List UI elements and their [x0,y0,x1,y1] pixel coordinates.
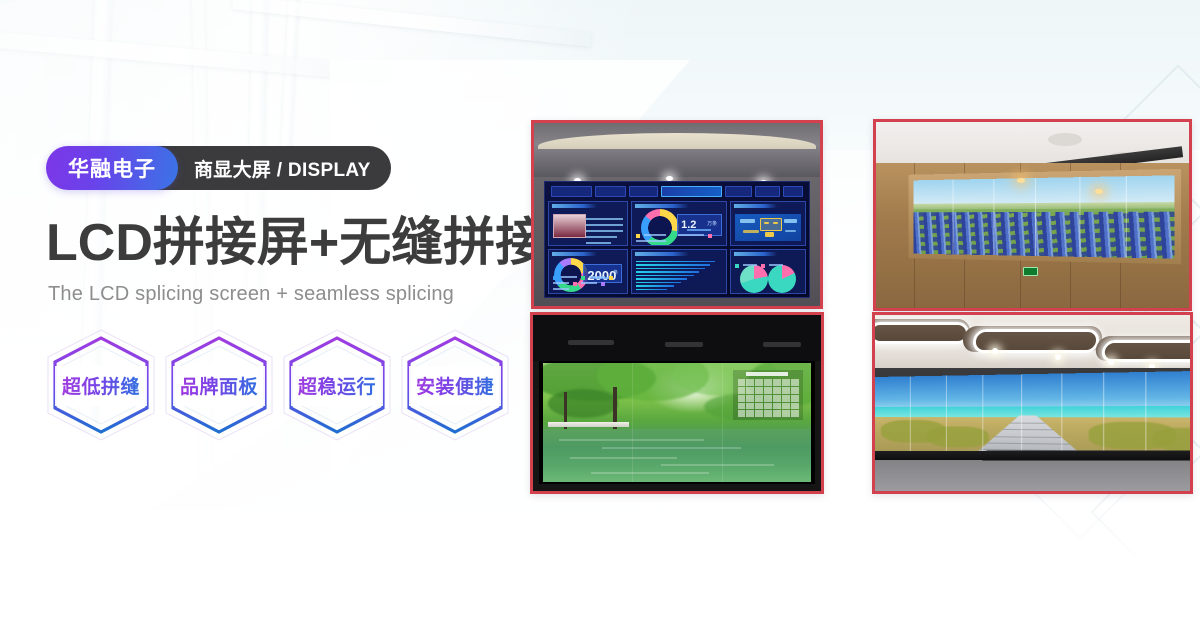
video-wall-bezel [539,361,816,484]
legend-label [553,282,569,284]
wall-highlight [665,342,702,347]
text-line [586,230,623,232]
dashboard-chip [783,186,803,197]
calendar-title [746,372,788,376]
ceiling [534,123,820,177]
photo-content: 1.2 万条 [534,123,820,306]
photo-solar-farm-wall [873,119,1192,311]
bar [636,285,674,286]
legend-label [581,282,597,284]
legend-label [743,264,757,266]
scene-foliage [548,389,618,417]
dashboard-chip [551,186,592,197]
legend-label [769,264,783,266]
flow-node [743,230,759,233]
wall-top-bezel [533,315,821,361]
feature-badge-label: 超稳运行 [298,372,376,399]
legend-label [636,240,666,242]
chart-legend [735,264,801,268]
feature-badge-row: 超低拼缝 品牌面板 超稳运行 [42,326,516,444]
bar [636,278,687,279]
feature-badge-label: 品牌面板 [180,372,258,399]
wall-highlight [763,342,800,347]
downlight [1055,354,1061,360]
feature-badge: 品牌面板 [160,326,278,444]
metric-panel: 1.2 万条 [677,214,722,236]
banner-stage: 华融电子 商显大屏 / DISPLAY LCD拼接屏+无缝拼接 The LCD … [0,0,1200,640]
dashboard-card-count: 2000 条 [548,249,628,294]
video-wall-screen: 1.2 万条 [544,181,810,298]
legend-swatch [708,234,712,238]
wall-highlight [568,340,614,345]
text-line [586,218,623,220]
photo-beach-boardwalk-wall [872,312,1193,494]
dashboard-card-bars [631,249,726,294]
legend-label [644,234,666,236]
pie-chart [740,265,768,293]
bar [636,264,709,265]
legend-label [561,276,577,278]
flow-node [740,219,755,223]
legend-label [678,234,704,236]
card-title [552,204,597,208]
page-title: LCD拼接屏+无缝拼接 [46,216,516,271]
feature-badge: 超稳运行 [278,326,396,444]
video-wall-screen [543,363,811,481]
calendar-overlay [733,370,803,420]
card-title [635,204,689,208]
card-thumbnail [553,214,586,238]
feature-badge-label: 超低拼缝 [62,372,140,399]
photo-content [876,122,1189,308]
video-wall-base [875,450,1193,460]
text-line [586,236,617,238]
legend-swatch [573,282,577,286]
scene-water [543,429,811,481]
text-line [586,242,611,244]
bar [636,268,704,269]
legend-swatch [636,234,640,238]
flow-node [785,230,796,233]
wall-lamp [1095,189,1103,194]
photo-willow-lake-wall [530,312,824,494]
bar [636,282,680,283]
flow-diagram [735,214,801,241]
tag-bar: 华融电子 商显大屏 / DISPLAY [46,146,391,190]
exit-sign-icon [1023,267,1038,276]
ceiling-light-strip [1100,340,1193,362]
chart-legend [636,234,721,242]
video-wall-screen [875,370,1193,456]
scene-railing [548,422,628,427]
card-title [635,252,689,256]
calendar-grid [738,379,799,417]
photo-control-room-dashboard: 1.2 万条 [531,120,823,309]
legend-label [589,276,605,278]
legend-label [553,288,569,290]
chart-legend [553,276,623,290]
dashboard-card-flow [730,201,806,246]
dashboard-chip [629,186,658,197]
card-title [552,252,597,256]
dashboard-grid: 1.2 万条 [548,201,806,294]
legend-swatch [735,264,739,268]
page-subtitle: The LCD splicing screen + seamless splic… [48,283,516,306]
legend-swatch [601,282,605,286]
bar [636,271,699,272]
bar [636,275,694,276]
banner-copy: 华融电子 商显大屏 / DISPLAY LCD拼接屏+无缝拼接 The LCD … [46,146,516,444]
dashboard-chip [755,186,780,197]
text-line [586,224,623,226]
flow-node [765,232,774,237]
feature-badge: 安装便捷 [396,326,514,444]
bar-chart [636,261,721,290]
photo-content [533,315,821,491]
dashboard-chip [595,186,626,197]
flow-node [760,218,782,231]
dashboard-card-pies [730,249,806,294]
wall-lamp [1017,178,1025,183]
pie-chart [768,265,796,293]
card-title [734,204,777,208]
card-title [734,252,777,256]
ceiling-light-strip [872,322,969,344]
text-line [687,229,711,231]
legend-swatch [553,276,557,280]
bar [636,261,715,262]
dashboard-card-intro [548,201,628,246]
legend-swatch [761,264,765,268]
dashboard-title-chip [661,186,722,197]
dashboard-chip [725,186,752,197]
feature-badge-label: 安装便捷 [416,372,494,399]
ceiling-cove [538,133,816,149]
brand-tag: 华融电子 [46,146,178,190]
dashboard-card-metric: 1.2 万条 [631,201,726,246]
flow-node [784,219,797,223]
legend-swatch [581,276,585,280]
legend-swatch [670,234,674,238]
metric-unit: 万条 [707,220,717,227]
photo-content [875,315,1190,491]
video-wall-screen [914,175,1175,258]
ceiling-light-strip [971,329,1099,353]
flow-node [764,222,769,224]
dashboard-header [548,185,806,198]
bar [636,289,667,290]
legend-swatch [609,276,613,280]
feature-badge: 超低拼缝 [42,326,160,444]
